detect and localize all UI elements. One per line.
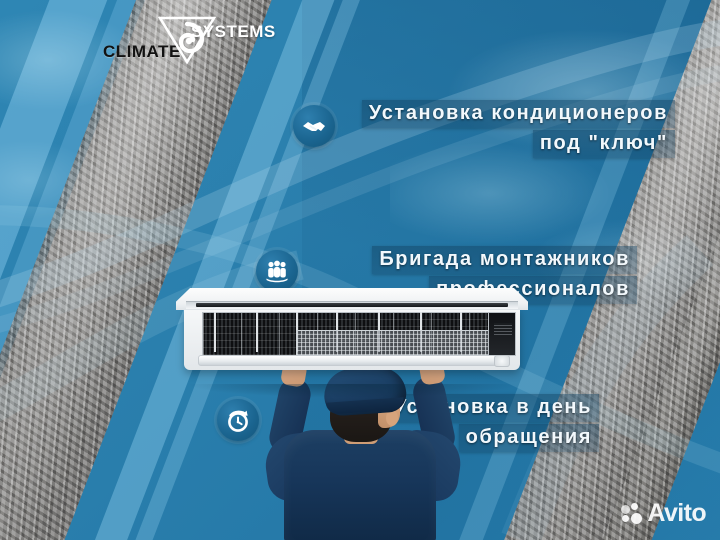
feature-item: Установка кондиционеров под "ключ" [0, 48, 720, 120]
ac-coil-divider [256, 312, 258, 352]
ac-drop-shadow [186, 384, 518, 398]
ac-filter-mesh [296, 330, 494, 356]
torso-uniform [284, 430, 436, 540]
feature-item: Установка в день обращения [0, 192, 720, 264]
ac-control-panel [494, 355, 510, 367]
ac-body [184, 308, 520, 370]
ac-side-vent [488, 312, 516, 356]
feature-list: Установка кондиционеров под "ключ" Брига… [0, 48, 720, 264]
avito-watermark: Avito [621, 499, 706, 528]
ac-air-louver [198, 355, 498, 366]
avito-dots-icon [621, 503, 642, 524]
avito-wordmark: Avito [647, 499, 706, 528]
feature-item: Бригада монтажников профессионалов [0, 120, 720, 192]
ac-coil-divider [214, 312, 216, 352]
ac-intake-slot [196, 303, 508, 307]
split-air-conditioner [176, 288, 528, 388]
clock-arrow-icon [225, 407, 252, 434]
avito-ad-banner: CLIMATE SYSTEMS Установка кондиционеров … [0, 0, 720, 540]
feature-line: обращения [459, 424, 599, 452]
